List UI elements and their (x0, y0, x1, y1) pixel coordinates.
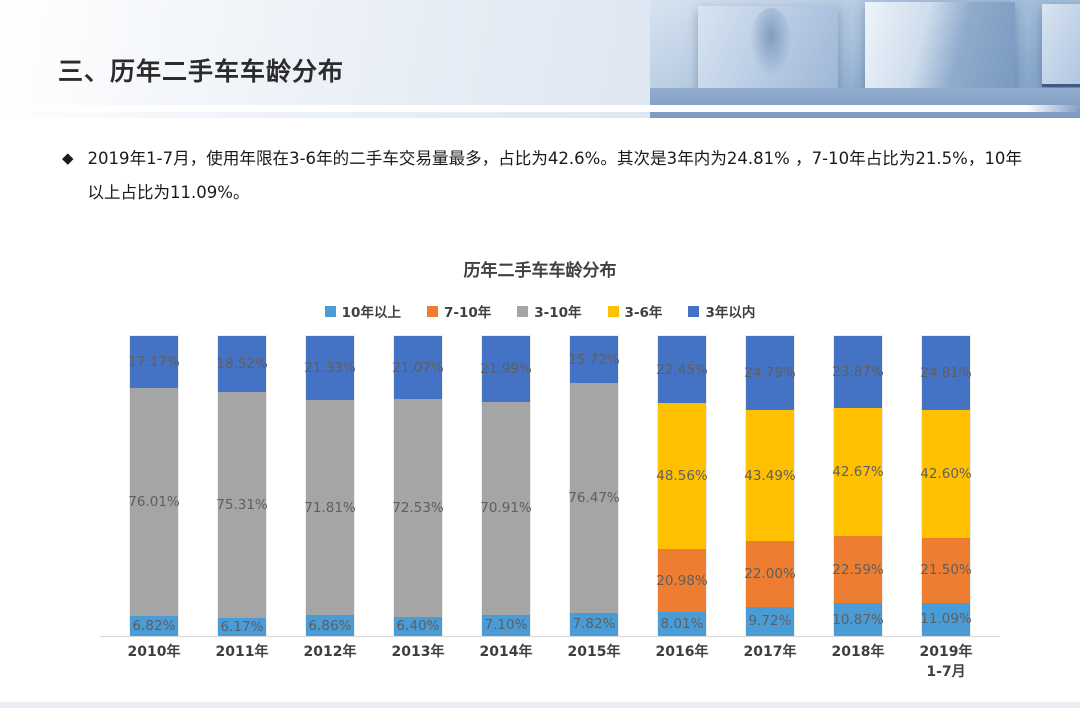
bar-segment-label: 21.07% (392, 360, 443, 376)
summary-text: 2019年1-7月，使用年限在3-6年的二手车交易量最多，占比为42.6%。其次… (88, 142, 1022, 210)
bar-segment-label: 22.00% (744, 566, 795, 582)
footer-rule (0, 702, 1080, 708)
x-axis-label-sub: 1-7月 (902, 662, 990, 682)
legend-swatch-icon (688, 306, 699, 317)
bar-segment[interactable]: 10.87% (834, 603, 882, 636)
legend-label: 7-10年 (444, 301, 491, 321)
bar-segment-label: 24.79% (744, 365, 795, 381)
x-axis-label: 2016年 (638, 642, 726, 682)
bar-column[interactable]: 21.99%70.91%7.10% (462, 336, 550, 636)
x-axis-label-main: 2013年 (392, 644, 445, 660)
bar-segment[interactable]: 6.82% (130, 616, 178, 636)
bar-column[interactable]: 23.87%42.67%22.59%10.87% (814, 336, 902, 636)
bar-segment-label: 76.01% (128, 494, 179, 510)
x-axis-label: 2014年 (462, 642, 550, 682)
bar-segment[interactable]: 43.49% (746, 410, 794, 540)
bar-segment-label: 8.01% (661, 616, 704, 632)
bar-segment-label: 15.72% (568, 352, 619, 368)
x-axis-label: 2019年1-7月 (902, 642, 990, 682)
x-axis-label: 2013年 (374, 642, 462, 682)
legend-label: 3-10年 (534, 301, 581, 321)
bar-segment[interactable]: 76.01% (130, 388, 178, 616)
bar-segment[interactable]: 22.00% (746, 541, 794, 607)
bar-segment-label: 9.72% (749, 613, 792, 629)
bar-segment[interactable]: 70.91% (482, 402, 530, 615)
legend-label: 3-6年 (625, 301, 663, 321)
bar-column[interactable]: 21.07%72.53%6.40% (374, 336, 462, 636)
legend-item-4[interactable]: 3年以内 (688, 301, 755, 321)
bar-segment[interactable]: 22.45% (658, 336, 706, 403)
bar-column[interactable]: 15.72%76.47%7.82% (550, 336, 638, 636)
legend-label: 3年以内 (705, 301, 755, 321)
stacked-bar[interactable]: 22.45%48.56%20.98%8.01% (658, 336, 706, 636)
bar-segment-label: 43.49% (744, 468, 795, 484)
bar-segment[interactable]: 21.50% (922, 538, 970, 603)
bar-segment[interactable]: 7.82% (570, 613, 618, 636)
legend-swatch-icon (427, 306, 438, 317)
bar-segment-label: 22.59% (832, 562, 883, 578)
stacked-bar[interactable]: 17.17%76.01%6.82% (130, 336, 178, 636)
bar-segment[interactable]: 24.79% (746, 336, 794, 410)
x-axis-label-main: 2012年 (304, 644, 357, 660)
bar-segment-label: 42.60% (920, 466, 971, 482)
bar-segment-label: 21.50% (920, 562, 971, 578)
bar-segment[interactable]: 48.56% (658, 403, 706, 549)
stacked-bar[interactable]: 15.72%76.47%7.82% (570, 336, 618, 636)
x-axis-line (100, 636, 1000, 637)
stacked-bar[interactable]: 21.33%71.81%6.86% (306, 336, 354, 636)
cube-shape-1 (698, 6, 838, 101)
bar-segment-label: 21.99% (480, 361, 531, 377)
bar-segment[interactable]: 21.33% (306, 336, 354, 400)
bar-column[interactable]: 21.33%71.81%6.86% (286, 336, 374, 636)
bar-segment[interactable]: 23.87% (834, 336, 882, 408)
x-axis-label-main: 2018年 (832, 644, 885, 660)
bar-segment[interactable]: 18.52% (218, 336, 266, 392)
x-axis-label: 2010年 (110, 642, 198, 682)
legend-item-3[interactable]: 3-6年 (608, 301, 663, 321)
bar-segment[interactable]: 21.07% (394, 336, 442, 399)
bar-segment[interactable]: 6.40% (394, 617, 442, 636)
bar-segment-label: 21.33% (304, 360, 355, 376)
chart-title: 历年二手车车龄分布 (0, 256, 1080, 281)
bar-column[interactable]: 24.81%42.60%21.50%11.09% (902, 336, 990, 636)
bar-segment-label: 7.82% (573, 616, 616, 632)
bar-segment[interactable]: 6.86% (306, 615, 354, 636)
bar-segment-label: 23.87% (832, 364, 883, 380)
bar-segment-label: 20.98% (656, 573, 707, 589)
bar-segment[interactable]: 11.09% (922, 603, 970, 636)
bar-segment[interactable]: 15.72% (570, 336, 618, 383)
bar-segment[interactable]: 6.17% (218, 618, 266, 637)
x-axis-label: 2011年 (198, 642, 286, 682)
bar-segment[interactable]: 17.17% (130, 336, 178, 388)
legend-item-0[interactable]: 10年以上 (325, 301, 401, 321)
bar-segment[interactable]: 42.60% (922, 410, 970, 538)
bar-segment[interactable]: 21.99% (482, 336, 530, 402)
x-axis-label-main: 2017年 (744, 644, 797, 660)
x-axis-label-main: 2015年 (568, 644, 621, 660)
x-axis-label: 2017年 (726, 642, 814, 682)
chart-plot-area: 17.17%76.01%6.82%18.52%75.31%6.17%21.33%… (110, 336, 990, 636)
bar-column[interactable]: 22.45%48.56%20.98%8.01% (638, 336, 726, 636)
stacked-bar[interactable]: 18.52%75.31%6.17% (218, 336, 266, 636)
bar-segment[interactable]: 75.31% (218, 392, 266, 618)
x-axis-label: 2015年 (550, 642, 638, 682)
bar-segment[interactable]: 72.53% (394, 399, 442, 617)
x-axis-label: 2018年 (814, 642, 902, 682)
cube-shape-3 (1042, 4, 1080, 87)
legend-swatch-icon (608, 306, 619, 317)
banner-bottom-strip (0, 105, 1080, 112)
legend-item-2[interactable]: 3-10年 (517, 301, 581, 321)
stacked-bar[interactable]: 24.81%42.60%21.50%11.09% (922, 336, 970, 636)
x-axis-label-main: 2014年 (480, 644, 533, 660)
x-axis-label-main: 2019年 (920, 644, 973, 660)
page-title: 三、历年二手车车龄分布 (58, 52, 344, 88)
bar-segment-label: 7.10% (485, 617, 528, 633)
bar-segment-label: 10.87% (832, 612, 883, 628)
bar-segment-label: 76.47% (568, 490, 619, 506)
bar-segment-label: 6.86% (309, 618, 352, 634)
bar-segment-label: 70.91% (480, 500, 531, 516)
bar-column[interactable]: 17.17%76.01%6.82% (110, 336, 198, 636)
x-axis-label-main: 2016年 (656, 644, 709, 660)
legend-swatch-icon (325, 306, 336, 317)
bar-column[interactable]: 24.79%43.49%22.00%9.72% (726, 336, 814, 636)
x-axis-labels: 2010年2011年2012年2013年2014年2015年2016年2017年… (110, 642, 990, 682)
bar-segment-label: 75.31% (216, 497, 267, 513)
bar-segment-label: 71.81% (304, 500, 355, 516)
bar-segment-label: 42.67% (832, 464, 883, 480)
bar-segment[interactable]: 7.10% (482, 615, 530, 636)
bar-segment-label: 17.17% (128, 354, 179, 370)
chart-legend: 10年以上7-10年3-10年3-6年3年以内 (0, 301, 1080, 321)
bar-segment[interactable]: 9.72% (746, 607, 794, 636)
bar-segment-label: 18.52% (216, 356, 267, 372)
bullet-diamond-icon: ◆ (62, 142, 74, 176)
cube-shape-2 (865, 2, 1015, 93)
bar-segment-label: 6.82% (133, 618, 176, 634)
bar-segment[interactable]: 22.59% (834, 536, 882, 604)
x-axis-label: 2012年 (286, 642, 374, 682)
stacked-bar[interactable]: 24.79%43.49%22.00%9.72% (746, 336, 794, 636)
bar-segment-label: 6.40% (397, 618, 440, 634)
summary-bullet: ◆ 2019年1-7月，使用年限在3-6年的二手车交易量最多，占比为42.6%。… (62, 142, 1022, 210)
bar-segment-label: 48.56% (656, 468, 707, 484)
bar-segment[interactable]: 76.47% (570, 383, 618, 612)
bar-segment[interactable]: 20.98% (658, 549, 706, 612)
x-axis-label-main: 2011年 (216, 644, 269, 660)
chart-container: 历年二手车车龄分布 10年以上7-10年3-10年3-6年3年以内 17.17%… (0, 248, 1080, 703)
x-axis-label-main: 2010年 (128, 644, 181, 660)
bar-segment[interactable]: 71.81% (306, 400, 354, 615)
bar-column[interactable]: 18.52%75.31%6.17% (198, 336, 286, 636)
bar-segment-label: 72.53% (392, 500, 443, 516)
legend-item-1[interactable]: 7-10年 (427, 301, 491, 321)
bar-segment-label: 22.45% (656, 362, 707, 378)
stacked-bar[interactable]: 21.99%70.91%7.10% (482, 336, 530, 636)
legend-label: 10年以上 (342, 301, 401, 321)
bar-segment[interactable]: 24.81% (922, 336, 970, 410)
blue-cubes-photo (650, 0, 1080, 118)
bar-segment[interactable]: 8.01% (658, 612, 706, 636)
header-banner: 三、历年二手车车龄分布 (0, 0, 1080, 118)
banner-floor (650, 88, 1080, 118)
bar-segment[interactable]: 42.67% (834, 408, 882, 536)
stacked-bar[interactable]: 21.07%72.53%6.40% (394, 336, 442, 636)
bar-segment-label: 6.17% (221, 619, 264, 635)
bar-segment-label: 24.81% (920, 365, 971, 381)
bar-segment-label: 11.09% (920, 611, 971, 627)
legend-swatch-icon (517, 306, 528, 317)
stacked-bar[interactable]: 23.87%42.67%22.59%10.87% (834, 336, 882, 636)
